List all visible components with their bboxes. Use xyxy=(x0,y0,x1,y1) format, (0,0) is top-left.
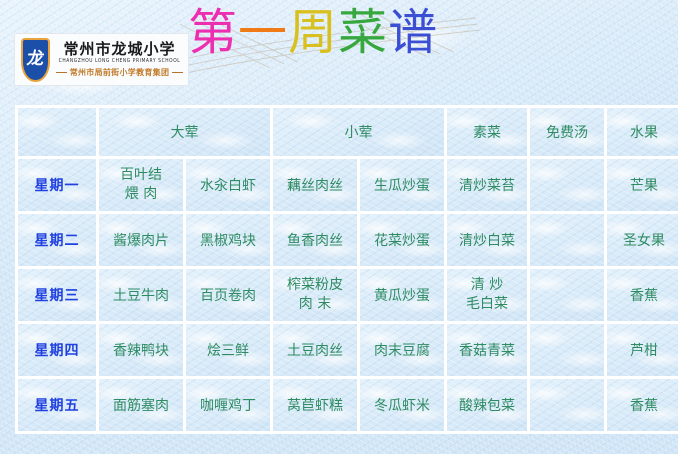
cell-main-meat-2: 水汆白虾 xyxy=(186,159,270,211)
cell-main-meat-2: 百页卷肉 xyxy=(186,269,270,321)
right-dash-icon xyxy=(172,72,183,73)
cell-fruit: 圣女果 xyxy=(607,214,678,266)
cell-fruit: 香蕉 xyxy=(607,379,678,431)
cell-fruit: 芦柑 xyxy=(607,324,678,376)
poster-header: 龙 常州市龙城小学 CHANGZHOU LONG CHENG PRIMARY S… xyxy=(0,0,678,100)
title-char-4: 菜 xyxy=(338,3,388,63)
school-name-en: CHANGZHOU LONG CHENG PRIMARY SCHOOL xyxy=(55,57,184,65)
title-char-2: 一 xyxy=(238,3,288,63)
cell-small-meat-2: 花菜炒蛋 xyxy=(360,214,444,266)
title-char-3: 周 xyxy=(288,3,338,63)
cell-small-meat-1: 莴苣虾糕 xyxy=(273,379,357,431)
cell-weekday: 星期二 xyxy=(18,214,96,266)
cell-free-soup xyxy=(530,159,604,211)
cell-vegetable: 清炒白菜 xyxy=(447,214,527,266)
cell-main-meat-1: 酱爆肉片 xyxy=(99,214,183,266)
cell-main-meat-2: 烩三鲜 xyxy=(186,324,270,376)
cell-weekday: 星期三 xyxy=(18,269,96,321)
cell-small-meat-2: 黄瓜炒蛋 xyxy=(360,269,444,321)
cell-small-meat-1: 藕丝肉丝 xyxy=(273,159,357,211)
school-name-cn: 常州市龙城小学 xyxy=(55,41,184,58)
cell-main-meat-1: 香辣鸭块 xyxy=(99,324,183,376)
title-char-1: 第 xyxy=(188,3,238,63)
dish-text: 清 炒 毛白菜 xyxy=(449,276,525,314)
menu-poster: 龙 常州市龙城小学 CHANGZHOU LONG CHENG PRIMARY S… xyxy=(0,0,678,454)
table-row: 星期三 土豆牛肉 百页卷肉 榨菜粉皮 肉 末 黄瓜炒蛋 清 炒 毛白菜 香蕉 xyxy=(18,269,678,321)
title-char-5: 谱 xyxy=(388,3,438,63)
cell-fruit: 芒果 xyxy=(607,159,678,211)
cell-free-soup xyxy=(530,214,604,266)
left-dash-icon xyxy=(56,72,67,73)
cell-main-meat-1: 面筋塞肉 xyxy=(99,379,183,431)
cell-main-meat-2: 咖喱鸡丁 xyxy=(186,379,270,431)
cell-small-meat-1: 鱼香肉丝 xyxy=(273,214,357,266)
cell-vegetable: 清炒菜苔 xyxy=(447,159,527,211)
crest-character: 龙 xyxy=(25,46,46,72)
cell-main-meat-2: 黑椒鸡块 xyxy=(186,214,270,266)
cell-vegetable: 香菇青菜 xyxy=(447,324,527,376)
header-small-meat: 小荤 xyxy=(273,108,444,156)
header-main-meat: 大荤 xyxy=(99,108,270,156)
header-day xyxy=(18,108,96,156)
dish-text: 榨菜粉皮 肉 末 xyxy=(275,276,355,314)
cell-main-meat-1: 土豆牛肉 xyxy=(99,269,183,321)
header-free-soup: 免费汤 xyxy=(530,108,604,156)
cell-vegetable: 清 炒 毛白菜 xyxy=(447,269,527,321)
table-row: 星期五 面筋塞肉 咖喱鸡丁 莴苣虾糕 冬瓜虾米 酸辣包菜 香蕉 xyxy=(18,379,678,431)
cell-weekday: 星期四 xyxy=(18,324,96,376)
table-row: 星期四 香辣鸭块 烩三鲜 土豆肉丝 肉末豆腐 香菇青菜 芦柑 xyxy=(18,324,678,376)
cell-weekday: 星期一 xyxy=(18,159,96,211)
cell-small-meat-1: 榨菜粉皮 肉 末 xyxy=(273,269,357,321)
school-group-cn: 常州市局前街小学教育集团 xyxy=(70,67,170,78)
cell-small-meat-1: 土豆肉丝 xyxy=(273,324,357,376)
school-group-line: 常州市局前街小学教育集团 xyxy=(55,67,184,78)
cell-free-soup xyxy=(530,269,604,321)
cell-vegetable: 酸辣包菜 xyxy=(447,379,527,431)
school-crest-icon: 龙 xyxy=(18,37,53,83)
cell-main-meat-1: 百叶结 煨 肉 xyxy=(99,159,183,211)
table-row: 星期一 百叶结 煨 肉 水汆白虾 藕丝肉丝 生瓜炒蛋 清炒菜苔 芒果 xyxy=(18,159,678,211)
cell-fruit: 香蕉 xyxy=(607,269,678,321)
cell-free-soup xyxy=(530,379,604,431)
cell-small-meat-2: 冬瓜虾米 xyxy=(360,379,444,431)
school-logo: 龙 常州市龙城小学 CHANGZHOU LONG CHENG PRIMARY S… xyxy=(14,33,189,86)
cell-small-meat-2: 生瓜炒蛋 xyxy=(360,159,444,211)
weekly-menu-table: 大荤 小荤 素菜 免费汤 水果 星期一 百叶结 煨 肉 水汆白虾 藕丝肉丝 生瓜… xyxy=(15,105,678,434)
cell-weekday: 星期五 xyxy=(18,379,96,431)
header-fruit: 水果 xyxy=(607,108,678,156)
cell-free-soup xyxy=(530,324,604,376)
page-title: 第 一 周 菜 谱 xyxy=(188,2,438,64)
header-vegetable: 素菜 xyxy=(447,108,527,156)
table-header-row: 大荤 小荤 素菜 免费汤 水果 xyxy=(18,108,678,156)
school-logo-text: 常州市龙城小学 CHANGZHOU LONG CHENG PRIMARY SCH… xyxy=(53,41,184,78)
table-row: 星期二 酱爆肉片 黑椒鸡块 鱼香肉丝 花菜炒蛋 清炒白菜 圣女果 xyxy=(18,214,678,266)
cell-small-meat-2: 肉末豆腐 xyxy=(360,324,444,376)
dish-text: 百叶结 煨 肉 xyxy=(101,166,181,204)
